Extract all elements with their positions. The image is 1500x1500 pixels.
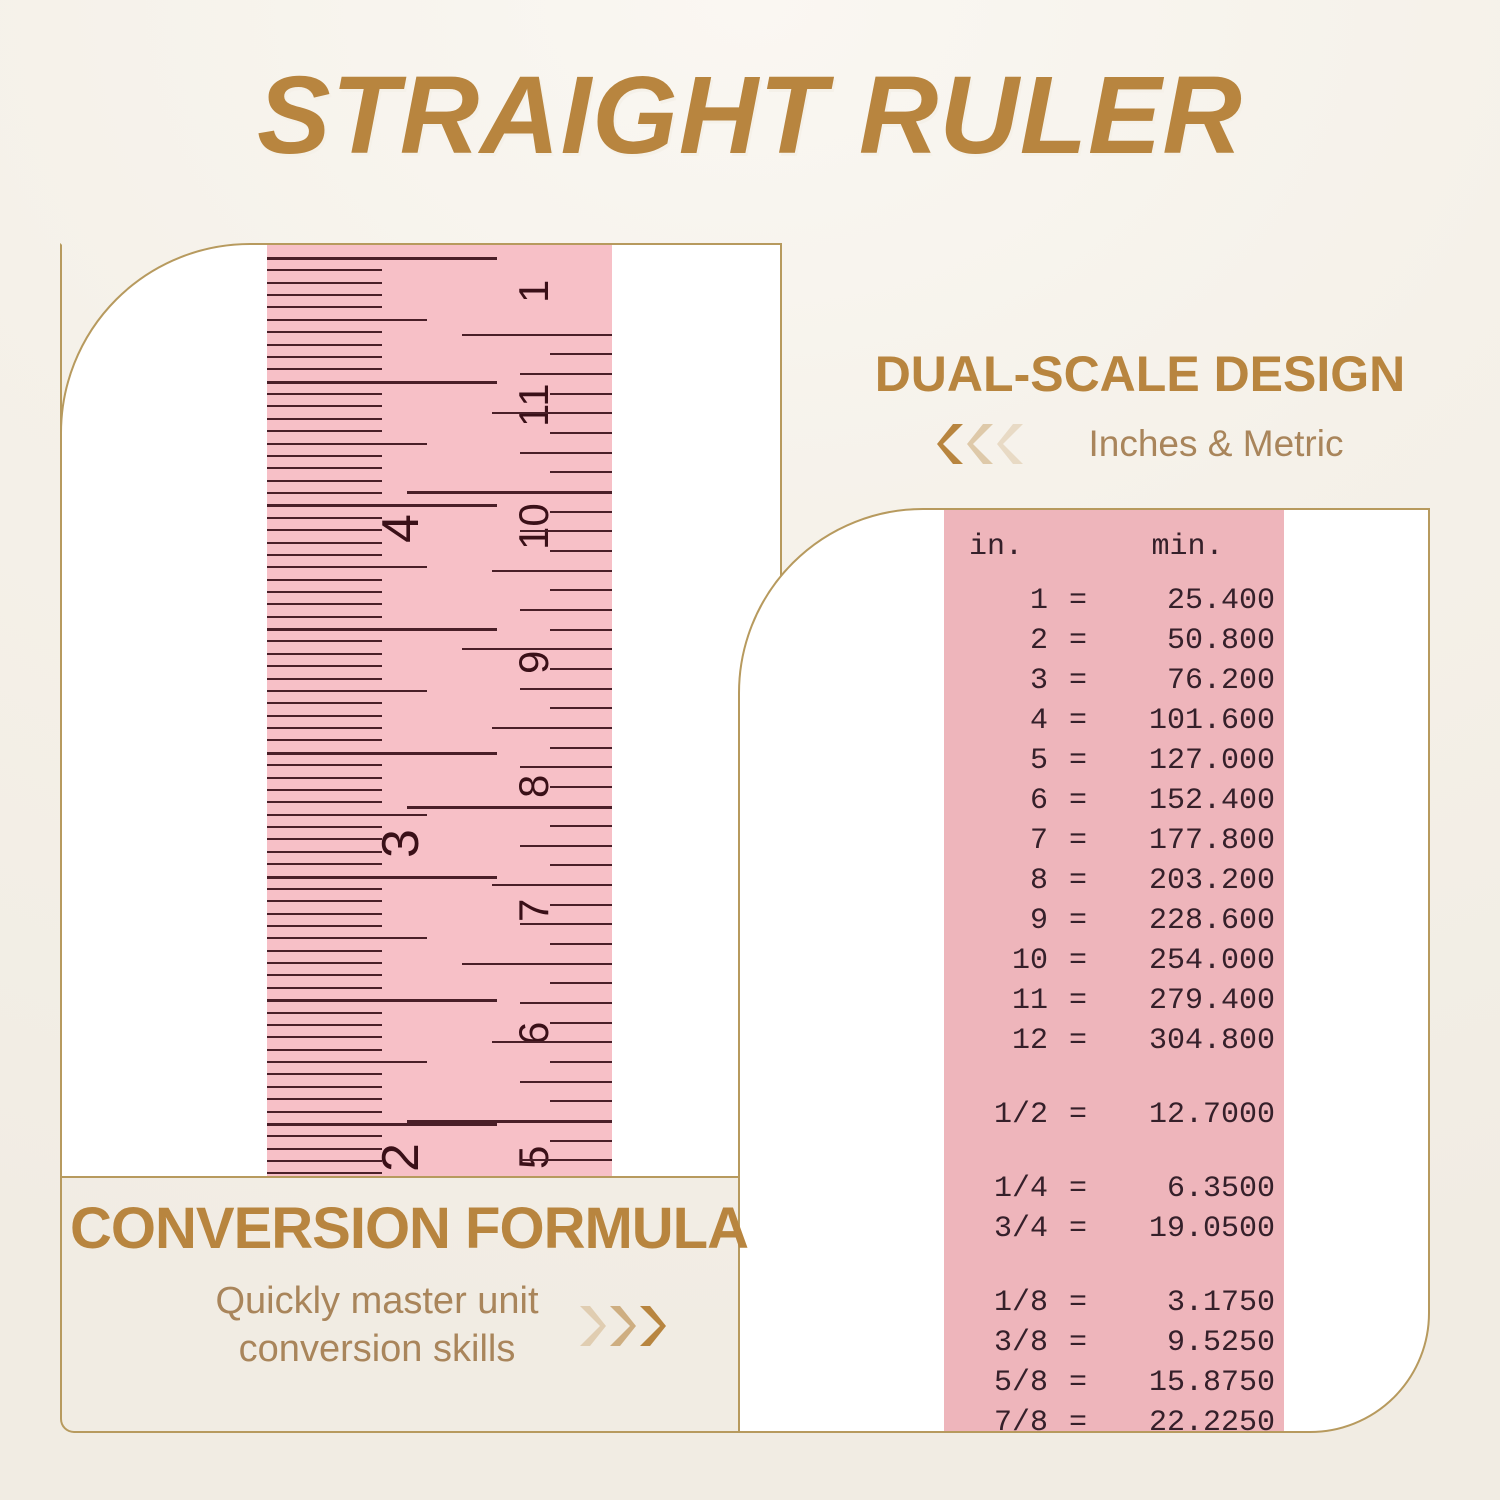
- ruler-tick-metric: [267, 1036, 382, 1038]
- equals-sign: =: [1056, 1406, 1100, 1433]
- ruler-tick-metric: [267, 368, 382, 370]
- row-inches: 7: [944, 824, 1056, 858]
- equals-sign: =: [1056, 624, 1100, 658]
- conversion-row: 3/8=9.5250: [944, 1326, 1284, 1366]
- row-millimeters: 3.1750: [1100, 1286, 1283, 1320]
- ruler-number-metric: 11: [510, 383, 558, 427]
- chevron-right-icon-3: [636, 1303, 666, 1349]
- conversion-row: 12=304.800: [944, 1024, 1284, 1064]
- dual-scale-subtitle: Inches & Metric: [1089, 423, 1344, 465]
- row-millimeters: 228.600: [1100, 904, 1283, 938]
- ruler-tick-metric: [267, 381, 497, 384]
- ruler-tick-imperial: [550, 353, 612, 355]
- ruler-number-metric: 7: [510, 898, 558, 921]
- conversion-row: 8=203.200: [944, 864, 1284, 904]
- chevron-left-icon-2: [967, 421, 997, 467]
- row-inches: 3/8: [944, 1326, 1056, 1360]
- ruler-tick-metric: [267, 789, 382, 791]
- conversion-row: 11=279.400: [944, 984, 1284, 1024]
- ruler-tick-metric: [267, 306, 382, 308]
- ruler-tick-metric: [267, 504, 497, 507]
- dual-scale-block: DUAL-SCALE DESIGN Inches & Metric: [820, 345, 1460, 467]
- ruler-tick-metric: [267, 1024, 382, 1026]
- ruler-tick-metric: [267, 331, 382, 333]
- ruler-tick-metric: [267, 727, 382, 729]
- conversion-row: 7/8=22.2250: [944, 1406, 1284, 1433]
- column-header-inches: in.: [944, 530, 1056, 564]
- ruler-tick-metric: [267, 542, 382, 544]
- equals-sign: =: [1056, 1172, 1100, 1206]
- row-inches: 1: [944, 584, 1056, 618]
- row-millimeters: 50.800: [1100, 624, 1283, 658]
- ruler-tick-metric: [267, 579, 382, 581]
- ruler-tick-metric: [267, 603, 382, 605]
- conversion-formula-block: CONVERSION FORMULA Quickly master unit c…: [62, 1200, 762, 1430]
- conversion-row: 3/4=19.0500: [944, 1212, 1284, 1252]
- row-millimeters: 9.5250: [1100, 1326, 1283, 1360]
- row-millimeters: 22.2250: [1100, 1406, 1283, 1433]
- ruler-tick-metric: [267, 480, 382, 482]
- ruler-tick-metric: [267, 863, 382, 865]
- ruler-tick-imperial: [407, 491, 612, 494]
- row-millimeters: 15.8750: [1100, 1366, 1283, 1400]
- ruler-tick-metric: [267, 925, 382, 927]
- ruler-tick-imperial: [492, 412, 612, 414]
- ruler-tick-imperial: [550, 629, 612, 631]
- row-inches: 4: [944, 704, 1056, 738]
- ruler-tick-metric: [267, 826, 382, 828]
- ruler-tick-metric: [267, 974, 382, 976]
- ruler-tick-metric: [267, 257, 497, 260]
- ruler-tick-imperial: [520, 923, 612, 925]
- ruler-tick-metric: [267, 628, 497, 631]
- ruler-tick-imperial: [492, 1041, 612, 1043]
- ruler-tick-metric: [267, 455, 382, 457]
- ruler-number-metric: 5: [510, 1146, 558, 1169]
- row-inches: 1/2: [944, 1098, 1056, 1132]
- dual-scale-title: DUAL-SCALE DESIGN: [820, 345, 1460, 403]
- ruler-tick-imperial: [520, 1159, 612, 1161]
- ruler-tick-metric: [267, 900, 382, 902]
- ruler-tick-imperial: [550, 825, 612, 827]
- row-inches: 3: [944, 664, 1056, 698]
- row-inches: 1/8: [944, 1286, 1056, 1320]
- ruler-tick-imperial: [550, 1100, 612, 1102]
- ruler-tick-imperial: [520, 1002, 612, 1004]
- row-inches: 2: [944, 624, 1056, 658]
- ruler-tick-metric: [267, 640, 382, 642]
- row-millimeters: 101.600: [1100, 704, 1283, 738]
- page-title: STRAIGHT RULER: [0, 52, 1500, 179]
- equals-sign: =: [1056, 984, 1100, 1018]
- ruler-tick-metric: [267, 888, 382, 890]
- ruler-tick-metric: [267, 999, 497, 1002]
- ruler-tick-imperial: [520, 609, 612, 611]
- ruler-tick-metric: [267, 764, 382, 766]
- ruler-tick-imperial: [550, 1140, 612, 1142]
- row-millimeters: 127.000: [1100, 744, 1283, 778]
- conversion-row: 3=76.200: [944, 664, 1284, 704]
- ruler-tick-metric: [267, 1073, 382, 1075]
- ruler-tick-imperial: [520, 452, 612, 454]
- equals-sign: =: [1056, 1024, 1100, 1058]
- ruler-tick-metric: [267, 591, 382, 593]
- ruler-number-imperial: 3: [371, 829, 431, 858]
- conversion-formula-subtitle: Quickly master unit conversion skills: [192, 1278, 562, 1373]
- ruler-tick-metric: [267, 319, 427, 321]
- row-inches: 7/8: [944, 1406, 1056, 1433]
- ruler-tick-imperial: [492, 884, 612, 886]
- equals-sign: =: [1056, 584, 1100, 618]
- ruler-tick-imperial: [550, 786, 612, 788]
- row-gap: [944, 1252, 1284, 1286]
- row-gap: [944, 1064, 1284, 1098]
- row-millimeters: 304.800: [1100, 1024, 1283, 1058]
- conversion-formula-title: CONVERSION FORMULA: [62, 1200, 762, 1258]
- ruler-tick-imperial: [550, 943, 612, 945]
- conversion-row: 5=127.000: [944, 744, 1284, 784]
- ruler-tick-imperial: [520, 688, 612, 690]
- ruler-tick-imperial: [550, 1061, 612, 1063]
- ruler-tick-imperial: [520, 373, 612, 375]
- ruler-tick-metric: [267, 492, 382, 494]
- column-header-millimeters: min.: [1100, 530, 1275, 564]
- ruler-tick-imperial: [492, 570, 612, 572]
- ruler-tick-metric: [267, 678, 382, 680]
- ruler-tick-metric: [267, 1012, 382, 1014]
- ruler-tick-metric: [267, 1061, 427, 1063]
- ruler-tick-metric: [267, 1111, 382, 1113]
- chevron-right-icon-2: [606, 1303, 636, 1349]
- ruler-tick-metric: [267, 653, 382, 655]
- ruler-tick-metric: [267, 529, 382, 531]
- ruler-tick-imperial: [550, 668, 612, 670]
- ruler-tick-imperial: [520, 766, 612, 768]
- conversion-row: 6=152.400: [944, 784, 1284, 824]
- ruler-tick-imperial: [550, 864, 612, 866]
- ruler-tick-metric: [267, 282, 382, 284]
- ruler-tick-metric: [267, 913, 382, 915]
- ruler-tick-metric: [267, 950, 382, 952]
- ruler-tick-metric: [267, 405, 382, 407]
- ruler-tick-metric: [267, 517, 382, 519]
- ruler-number-metric: 9: [510, 651, 558, 674]
- conversion-row: 5/8=15.8750: [944, 1366, 1284, 1406]
- ruler-tick-metric: [267, 1086, 382, 1088]
- equals-sign: =: [1056, 1098, 1100, 1132]
- ruler-tick-metric: [267, 702, 382, 704]
- ruler-back-strip: in.min.1=25.4002=50.8003=76.2004=101.600…: [944, 508, 1284, 1433]
- ruler-number-metric: 1: [510, 280, 558, 303]
- row-inches: 9: [944, 904, 1056, 938]
- ruler-tick-metric: [267, 851, 382, 853]
- row-inches: 1/4: [944, 1172, 1056, 1206]
- ruler-tick-imperial: [407, 1120, 612, 1123]
- ruler-tick-metric: [267, 777, 382, 779]
- ruler-tick-metric: [267, 269, 382, 271]
- conversion-subtitle-line1: Quickly master unit: [192, 1278, 562, 1326]
- ruler-tick-metric: [267, 801, 382, 803]
- conversion-row: 1/8=3.1750: [944, 1286, 1284, 1326]
- ruler-tick-metric: [267, 1148, 382, 1150]
- ruler-tick-metric: [267, 752, 497, 755]
- equals-sign: =: [1056, 1212, 1100, 1246]
- ruler-tick-metric: [267, 344, 382, 346]
- ruler-tick-metric: [267, 393, 382, 395]
- equals-sign: =: [1056, 784, 1100, 818]
- ruler-tick-imperial: [407, 806, 612, 809]
- equals-sign: =: [1056, 1326, 1100, 1360]
- equals-sign: =: [1056, 664, 1100, 698]
- ruler-tick-imperial: [550, 432, 612, 434]
- ruler-number-imperial: 2: [371, 1143, 431, 1172]
- ruler-tick-metric: [267, 356, 382, 358]
- ruler-tick-imperial: [550, 393, 612, 395]
- ruler-number-imperial: 4: [371, 514, 431, 543]
- equals-sign: =: [1056, 944, 1100, 978]
- ruler-tick-metric: [267, 987, 382, 989]
- ruler-tick-imperial: [550, 982, 612, 984]
- ruler-tick-imperial: [462, 648, 612, 650]
- equals-sign: =: [1056, 704, 1100, 738]
- row-millimeters: 76.200: [1100, 664, 1283, 698]
- row-millimeters: 279.400: [1100, 984, 1283, 1018]
- row-inches: 12: [944, 1024, 1056, 1058]
- row-millimeters: 25.400: [1100, 584, 1283, 618]
- conversion-row: 9=228.600: [944, 904, 1284, 944]
- ruler-tick-metric: [267, 937, 427, 939]
- ruler-tick-metric: [267, 962, 382, 964]
- ruler-tick-metric: [267, 294, 382, 296]
- equals-sign: =: [1056, 744, 1100, 778]
- ruler-tick-imperial: [550, 471, 612, 473]
- equals-sign: =: [1056, 824, 1100, 858]
- row-inches: 11: [944, 984, 1056, 1018]
- conversion-table-card: in.min.1=25.4002=50.8003=76.2004=101.600…: [738, 508, 1430, 1433]
- conversion-subtitle-line2: conversion skills: [192, 1326, 562, 1374]
- row-inches: 8: [944, 864, 1056, 898]
- ruler-tick-metric: [267, 690, 427, 692]
- ruler-tick-imperial: [520, 530, 612, 532]
- row-millimeters: 177.800: [1100, 824, 1283, 858]
- ruler-tick-metric: [267, 715, 382, 717]
- ruler-tick-metric: [267, 554, 382, 556]
- row-millimeters: 19.0500: [1100, 1212, 1283, 1246]
- conversion-row: 2=50.800: [944, 624, 1284, 664]
- ruler-tick-metric: [267, 1123, 497, 1126]
- ruler-tick-imperial: [550, 589, 612, 591]
- chevron-right-icon-1: [576, 1303, 606, 1349]
- equals-sign: =: [1056, 904, 1100, 938]
- ruler-tick-metric: [267, 739, 382, 741]
- ruler-tick-imperial: [550, 1022, 612, 1024]
- equals-sign: =: [1056, 1366, 1100, 1400]
- row-millimeters: 6.3500: [1100, 1172, 1283, 1206]
- chevron-left-icon-3: [997, 421, 1027, 467]
- conversion-row: 10=254.000: [944, 944, 1284, 984]
- ruler-tick-imperial: [550, 511, 612, 513]
- chevron-left-icon-1: [937, 421, 967, 467]
- ruler-tick-metric: [267, 838, 382, 840]
- chevron-left-group: [937, 421, 1027, 467]
- conversion-row: 1=25.400: [944, 584, 1284, 624]
- ruler-tick-imperial: [462, 334, 612, 336]
- equals-sign: =: [1056, 1286, 1100, 1320]
- ruler-tick-metric: [267, 467, 382, 469]
- row-inches: 5: [944, 744, 1056, 778]
- conversion-row: 1/4=6.3500: [944, 1172, 1284, 1212]
- ruler-tick-metric: [267, 566, 427, 568]
- row-millimeters: 254.000: [1100, 944, 1283, 978]
- conversion-row: 7=177.800: [944, 824, 1284, 864]
- row-millimeters: 152.400: [1100, 784, 1283, 818]
- conversion-table: in.min.1=25.4002=50.8003=76.2004=101.600…: [944, 508, 1284, 1433]
- ruler-tick-imperial: [520, 845, 612, 847]
- chevron-right-group: [576, 1303, 666, 1349]
- conversion-row: 4=101.600: [944, 704, 1284, 744]
- ruler-tick-imperial: [492, 727, 612, 729]
- ruler-tick-metric: [267, 443, 427, 445]
- row-gap: [944, 1138, 1284, 1172]
- equals-sign: =: [1056, 864, 1100, 898]
- row-inches: 10: [944, 944, 1056, 978]
- row-millimeters: 203.200: [1100, 864, 1283, 898]
- ruler-tick-metric: [267, 876, 497, 879]
- row-millimeters: 12.7000: [1100, 1098, 1283, 1132]
- ruler-tick-metric: [267, 1098, 382, 1100]
- conversion-table-header: in.min.: [944, 530, 1284, 584]
- ruler-tick-metric: [267, 1135, 382, 1137]
- conversion-row: 1/2=12.7000: [944, 1098, 1284, 1138]
- ruler-tick-imperial: [550, 707, 612, 709]
- ruler-card: 1111098765432: [60, 243, 782, 1178]
- ruler-tick-metric: [267, 814, 427, 816]
- ruler-tick-imperial: [550, 550, 612, 552]
- row-inches: 6: [944, 784, 1056, 818]
- ruler-tick-metric: [267, 616, 382, 618]
- ruler-tick-imperial: [550, 747, 612, 749]
- ruler-tick-metric: [267, 418, 382, 420]
- ruler-tick-metric: [267, 665, 382, 667]
- row-inches: 3/4: [944, 1212, 1056, 1246]
- ruler-tick-metric: [267, 1160, 382, 1162]
- row-inches: 5/8: [944, 1366, 1056, 1400]
- ruler-tick-imperial: [550, 904, 612, 906]
- ruler-tick-metric: [267, 430, 382, 432]
- ruler-tick-metric: [267, 1049, 382, 1051]
- ruler-tick-imperial: [462, 963, 612, 965]
- ruler-image: 1111098765432: [267, 243, 612, 1178]
- ruler-tick-imperial: [520, 1081, 612, 1083]
- ruler-tick-metric: [267, 1172, 382, 1174]
